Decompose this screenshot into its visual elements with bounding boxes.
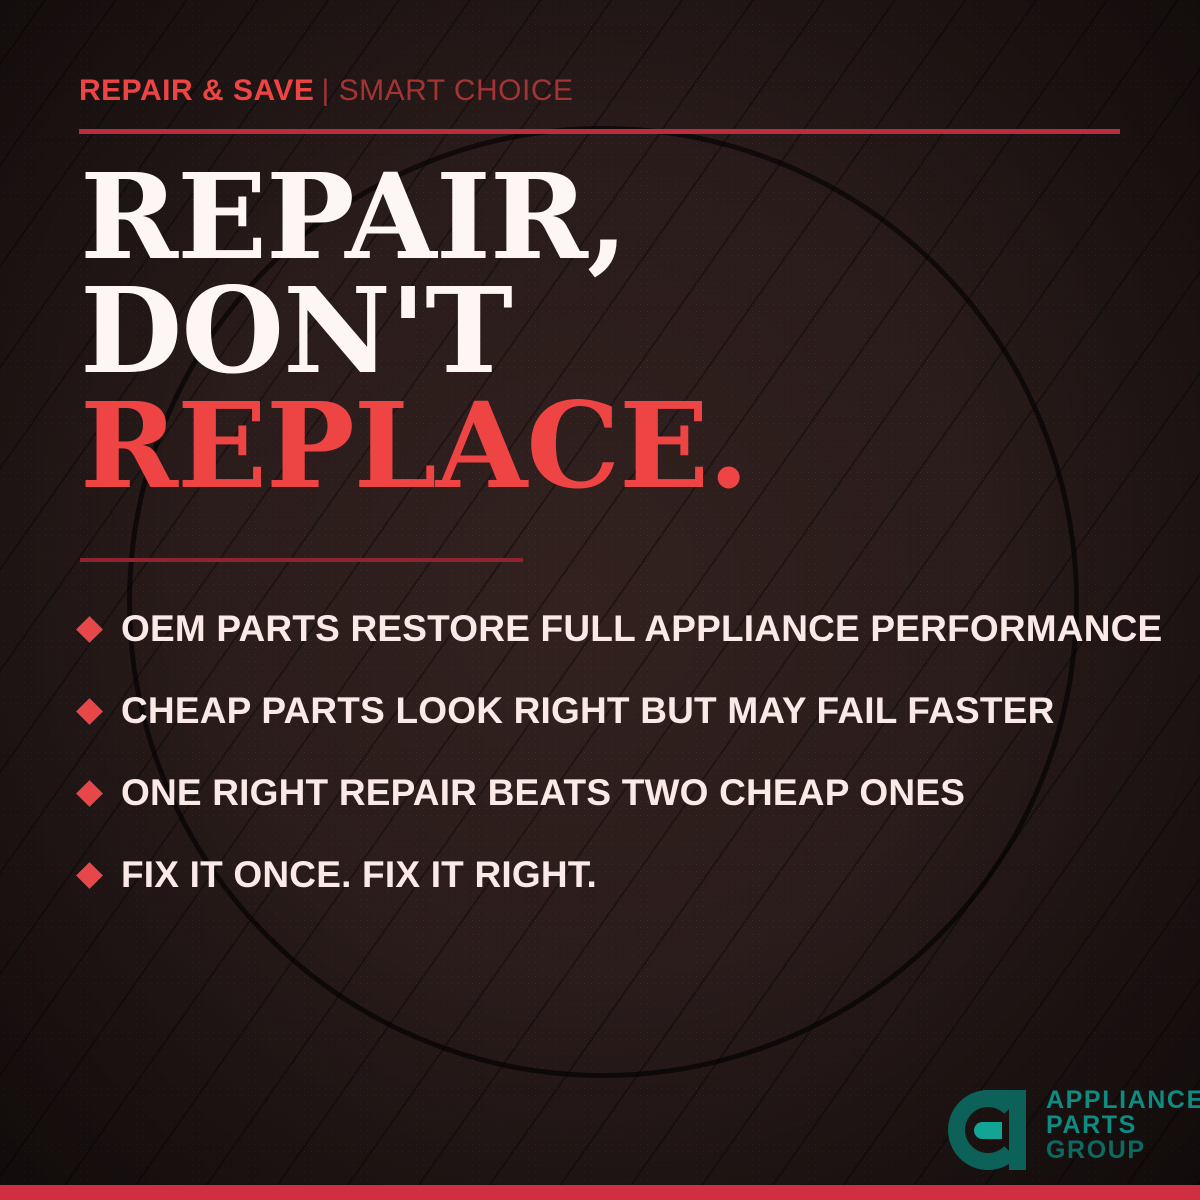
diamond-icon bbox=[76, 862, 103, 889]
g-monogram-stem bbox=[1009, 1090, 1026, 1170]
headline-divider bbox=[80, 558, 523, 562]
eyebrow: REPAIR & SAVE| SMART CHOICE bbox=[79, 74, 574, 108]
brand-logo: APPLIANCE PARTS GROUP bbox=[948, 1088, 1200, 1172]
page-title: REPAIR, DON'T REPLACE. bbox=[80, 160, 1140, 503]
list-item: OEM PARTS RESTORE FULL APPLIANCE PERFORM… bbox=[80, 588, 1150, 670]
bottom-accent-bar bbox=[0, 1185, 1200, 1200]
eyebrow-kicker: REPAIR & SAVE bbox=[79, 74, 314, 107]
benefits-list: OEM PARTS RESTORE FULL APPLIANCE PERFORM… bbox=[80, 588, 1150, 916]
brand-logo-line-2: PARTS bbox=[1046, 1113, 1200, 1138]
brand-logo-text: APPLIANCE PARTS GROUP bbox=[1046, 1088, 1200, 1163]
list-item-label: CHEAP PARTS LOOK RIGHT BUT MAY FAIL FAST… bbox=[121, 690, 1055, 732]
list-item: ONE RIGHT REPAIR BEATS TWO CHEAP ONES bbox=[80, 752, 1150, 834]
headline-line-1: REPAIR, bbox=[80, 160, 1140, 274]
list-item-label: FIX IT ONCE. FIX IT RIGHT. bbox=[121, 854, 597, 896]
diamond-icon bbox=[76, 698, 103, 725]
promo-poster: REPAIR & SAVE| SMART CHOICE REPAIR, DON'… bbox=[0, 0, 1200, 1200]
headline-line-2: DON'T bbox=[80, 274, 1140, 388]
poster-content: REPAIR & SAVE| SMART CHOICE REPAIR, DON'… bbox=[0, 0, 1200, 1200]
eyebrow-subtitle: | SMART CHOICE bbox=[321, 74, 573, 107]
diamond-icon bbox=[76, 616, 103, 643]
g-monogram-cap bbox=[983, 1090, 1009, 1107]
list-item-label: ONE RIGHT REPAIR BEATS TWO CHEAP ONES bbox=[121, 772, 965, 814]
list-item: FIX IT ONCE. FIX IT RIGHT. bbox=[80, 834, 1150, 916]
g-monogram-icon bbox=[948, 1088, 1032, 1172]
brand-logo-line-3: GROUP bbox=[1046, 1138, 1200, 1163]
header-rule bbox=[79, 129, 1120, 134]
g-monogram-accent-dot bbox=[974, 1122, 1002, 1139]
diamond-icon bbox=[76, 780, 103, 807]
list-item-label: OEM PARTS RESTORE FULL APPLIANCE PERFORM… bbox=[121, 608, 1162, 650]
headline-line-3: REPLACE. bbox=[80, 389, 1140, 503]
brand-logo-line-1: APPLIANCE bbox=[1046, 1088, 1200, 1113]
list-item: CHEAP PARTS LOOK RIGHT BUT MAY FAIL FAST… bbox=[80, 670, 1150, 752]
